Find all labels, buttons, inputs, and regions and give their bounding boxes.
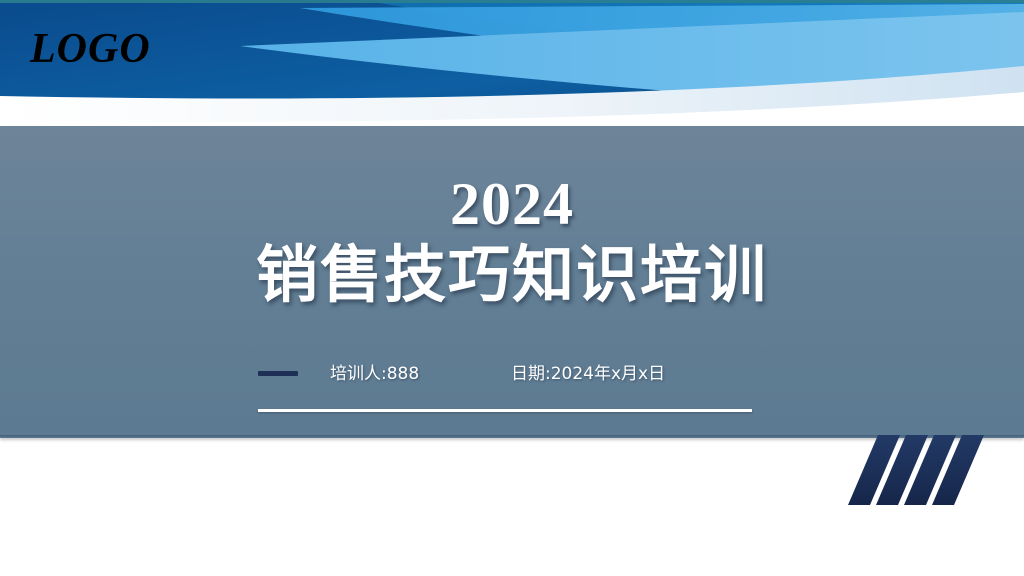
page-title: 销售技巧知识培训 [0,240,1024,309]
blue-wave-header [0,0,1024,130]
presentation-slide: LOGO 2024 销售技巧知识培训 培训人:888 日期:2024年x月x日 [0,0,1024,576]
divider-rule [258,409,752,412]
year-title: 2024 [0,174,1024,234]
diagonal-stripes-decoration [848,435,1024,510]
logo-text: LOGO [30,28,151,70]
date-label: 日期:2024年x月x日 [511,359,665,384]
presenter-label: 培训人:888 [330,359,419,384]
accent-dash [258,371,298,376]
